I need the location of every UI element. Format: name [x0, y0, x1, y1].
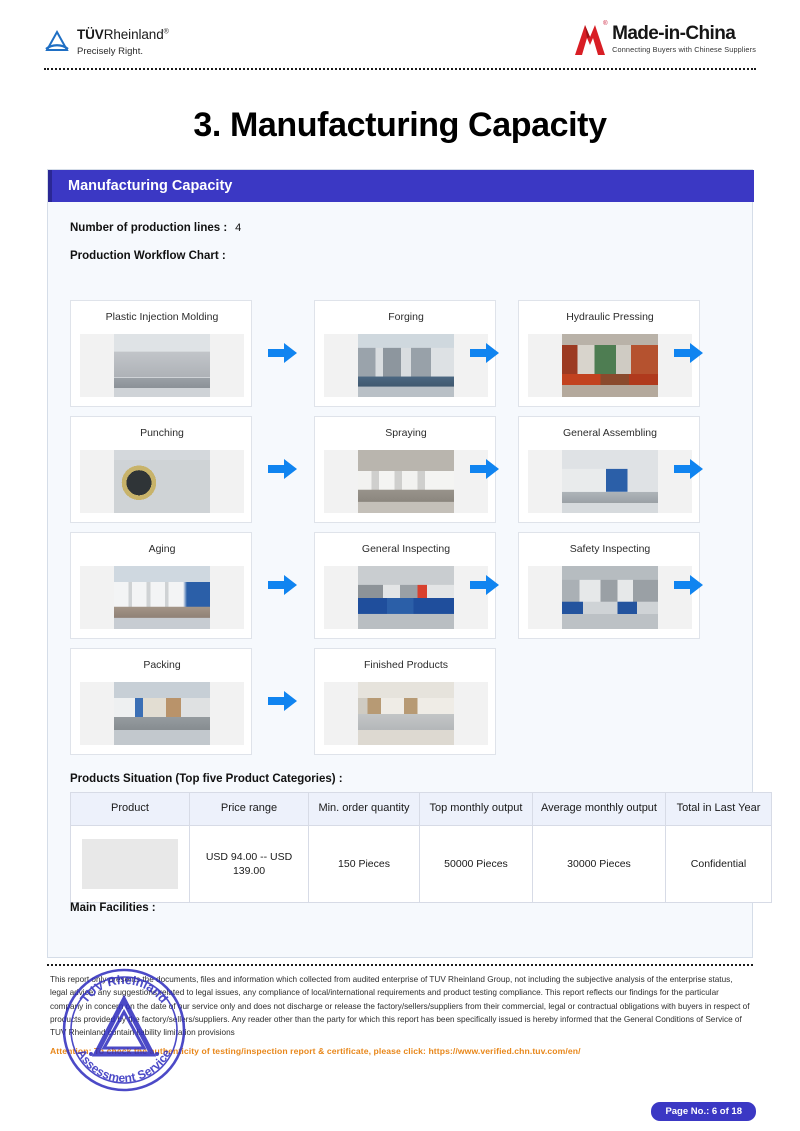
tuv-name-rest: Rheinland [104, 27, 164, 42]
workflow-row: Punching Spraying General Assembling [70, 416, 740, 532]
column-header-price-range: Price range [190, 793, 309, 826]
tuv-triangle-icon [44, 29, 70, 55]
mic-wordmark: Made-in-China [612, 24, 756, 43]
workflow-arrow-icon [674, 458, 704, 480]
column-header-product: Product [71, 793, 190, 826]
workflow-step-finished-products[interactable]: Finished Products [314, 648, 496, 755]
workflow-arrow-icon [268, 342, 298, 364]
workflow-step-spraying[interactable]: Spraying [314, 416, 496, 523]
mic-m-icon: ® [573, 24, 607, 56]
products-situation-table: Product Price range Min. order quantity … [70, 792, 772, 903]
table-row: USD 94.00 -- USD 139.00 150 Pieces 50000… [71, 825, 772, 902]
workflow-step-label: Hydraulic Pressing [519, 311, 701, 323]
workflow-row: Plastic Injection Molding Forging Hydrau… [70, 300, 740, 416]
tuv-wordmark: TÜVRheinland® [77, 28, 169, 42]
workflow-step-general-assembling[interactable]: General Assembling [518, 416, 700, 523]
workflow-step-image [324, 566, 488, 629]
column-header-top-monthly-output: Top monthly output [420, 793, 533, 826]
cell-min-order-quantity: 150 Pieces [309, 825, 420, 902]
workflow-step-label: Plastic Injection Molding [71, 311, 253, 323]
workflow-chart-label: Production Workflow Chart : [70, 250, 226, 262]
workflow-step-label: Finished Products [315, 659, 497, 671]
panel-title: Manufacturing Capacity [48, 170, 754, 202]
workflow-arrow-icon [674, 574, 704, 596]
footer-divider [47, 964, 753, 966]
page-number-badge: Page No.: 6 of 18 [651, 1102, 756, 1121]
workflow-step-safety-inspecting[interactable]: Safety Inspecting [518, 532, 700, 639]
page-header: TÜVRheinland® Precisely Right. ® Made-in… [0, 0, 800, 72]
workflow-step-label: Aging [71, 543, 253, 555]
workflow-arrow-icon [470, 574, 500, 596]
workflow-row: Packing Finished Products [70, 648, 740, 764]
workflow-arrow-icon [268, 458, 298, 480]
workflow-arrow-icon [268, 574, 298, 596]
manufacturing-capacity-panel: Manufacturing Capacity Number of product… [47, 169, 753, 958]
workflow-arrow-icon [470, 458, 500, 480]
workflow-step-aging[interactable]: Aging [70, 532, 252, 639]
workflow-arrow-icon [674, 342, 704, 364]
production-workflow-chart: Plastic Injection Molding Forging Hydrau… [70, 300, 740, 764]
workflow-step-label: General Assembling [519, 427, 701, 439]
disclaimer-text: This report only presents the documents,… [50, 973, 750, 1039]
workflow-step-image [324, 682, 488, 745]
workflow-step-image [528, 566, 692, 629]
mic-registered-mark: ® [603, 21, 607, 27]
washing-machine-photo [82, 839, 178, 889]
workflow-step-label: Spraying [315, 427, 497, 439]
tuv-name-bold: TÜV [77, 27, 104, 42]
mic-tagline: Connecting Buyers with Chinese Suppliers [612, 46, 756, 53]
tuv-registered-mark: ® [164, 29, 169, 36]
workflow-step-image [80, 450, 244, 513]
column-header-average-monthly-output: Average monthly output [533, 793, 666, 826]
workflow-step-label: Forging [315, 311, 497, 323]
tuv-rheinland-logo: TÜVRheinland® Precisely Right. [44, 28, 169, 56]
cell-total-in-last-year: Confidential [666, 825, 772, 902]
attention-notice: Attention: To check the authenticity of … [50, 1046, 756, 1056]
column-header-total-in-last-year: Total in Last Year [666, 793, 772, 826]
workflow-step-image [528, 450, 692, 513]
workflow-row: Aging General Inspecting Safety Inspecti… [70, 532, 740, 648]
workflow-step-label: General Inspecting [315, 543, 497, 555]
workflow-arrow-icon [470, 342, 500, 364]
production-lines-label: Number of production lines : [70, 222, 227, 234]
cell-average-monthly-output: 30000 Pieces [533, 825, 666, 902]
cell-top-monthly-output: 50000 Pieces [420, 825, 533, 902]
workflow-step-general-inspecting[interactable]: General Inspecting [314, 532, 496, 639]
production-lines-field: Number of production lines :4 [70, 222, 241, 234]
workflow-step-punching[interactable]: Punching [70, 416, 252, 523]
products-situation-label: Products Situation (Top five Product Cat… [70, 773, 343, 785]
tuv-tagline: Precisely Right. [77, 47, 169, 57]
table-header-row: Product Price range Min. order quantity … [71, 793, 772, 826]
workflow-step-label: Packing [71, 659, 253, 671]
workflow-step-hydraulic-pressing[interactable]: Hydraulic Pressing [518, 300, 700, 407]
workflow-arrow-icon [268, 690, 298, 712]
production-lines-value: 4 [227, 222, 241, 234]
made-in-china-logo: ® Made-in-China Connecting Buyers with C… [573, 24, 756, 56]
cell-price-range: USD 94.00 -- USD 139.00 [190, 825, 309, 902]
main-facilities-label: Main Facilities : [70, 902, 156, 914]
workflow-step-packing[interactable]: Packing [70, 648, 252, 755]
workflow-step-image [80, 334, 244, 397]
header-divider [44, 68, 756, 70]
workflow-step-image [324, 450, 488, 513]
cell-product-image [71, 825, 190, 902]
workflow-step-forging[interactable]: Forging [314, 300, 496, 407]
panel-body: Number of production lines :4 Production… [48, 202, 754, 958]
workflow-step-image [324, 334, 488, 397]
workflow-step-image [80, 566, 244, 629]
workflow-step-label: Punching [71, 427, 253, 439]
workflow-step-image [80, 682, 244, 745]
column-header-min-order-quantity: Min. order quantity [309, 793, 420, 826]
workflow-step-plastic-injection-molding[interactable]: Plastic Injection Molding [70, 300, 252, 407]
page-title: 3. Manufacturing Capacity [0, 106, 800, 145]
workflow-step-label: Safety Inspecting [519, 543, 701, 555]
workflow-step-image [528, 334, 692, 397]
